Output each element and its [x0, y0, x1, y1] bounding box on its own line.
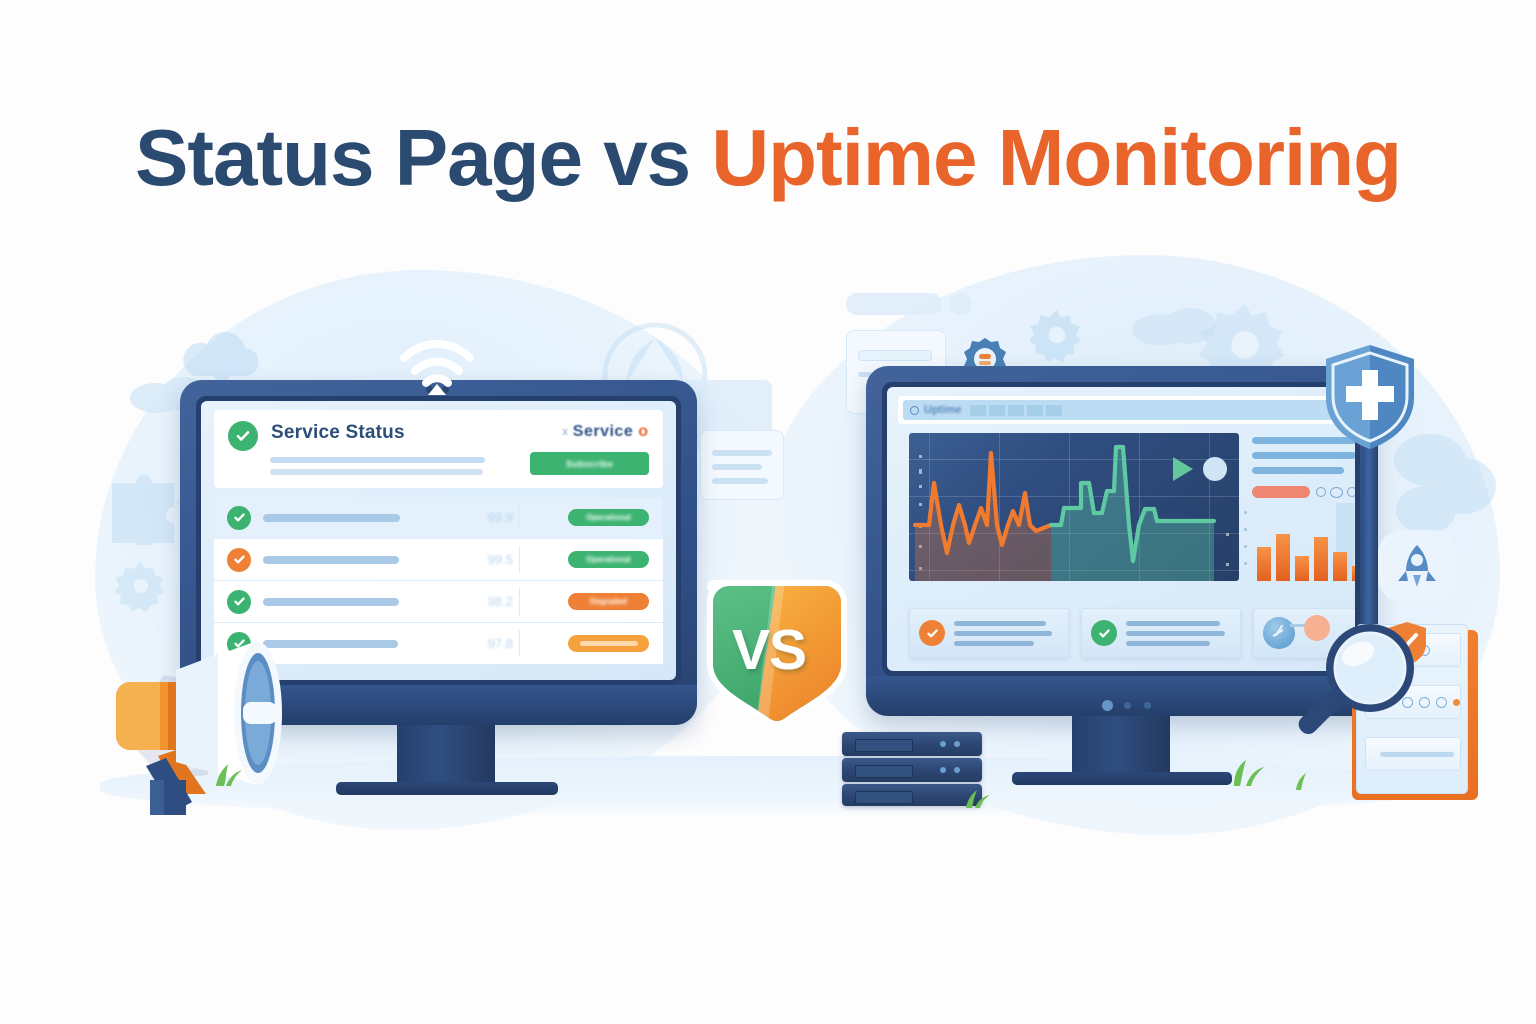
background-line — [712, 478, 768, 484]
monitor-stand-base — [336, 782, 558, 795]
uptime-screen: Uptime — [887, 387, 1355, 671]
gear-icon — [1030, 308, 1084, 362]
vs-badge: VS — [683, 572, 855, 732]
check-circle-icon — [227, 590, 251, 614]
circle-icon — [910, 406, 919, 415]
row-name-placeholder — [263, 556, 399, 564]
uptime-toolbar: Uptime — [898, 396, 1344, 424]
status-page-title: Service Status — [271, 422, 405, 444]
background-line — [712, 464, 762, 470]
grass-icon — [1228, 756, 1268, 786]
illustration-canvas: Status Page vs Uptime Monitoring — [0, 0, 1536, 1024]
bar-item — [1295, 556, 1309, 581]
status-badge: Operational — [568, 509, 649, 526]
uptime-toolbar-inner[interactable]: Uptime — [903, 400, 1339, 420]
gear-icon — [115, 560, 167, 612]
toolbar-blocks — [970, 405, 1062, 416]
check-circle-icon — [1091, 620, 1117, 646]
card-placeholder-lines — [1126, 621, 1225, 646]
status-badge: Operational — [568, 551, 649, 568]
server-unit — [842, 784, 982, 806]
status-dot — [1453, 699, 1460, 706]
server-unit — [842, 732, 982, 756]
circle-icon — [1316, 487, 1326, 497]
vs-badge-label: VS — [683, 572, 855, 732]
uptime-chart — [909, 433, 1239, 581]
subscribe-button-label: Subscribe — [566, 459, 613, 469]
magnifier-icon — [1288, 612, 1428, 752]
badge-inner-pill — [580, 641, 638, 646]
logo-prefix: x — [562, 426, 568, 438]
status-card[interactable] — [1081, 608, 1241, 658]
table-row[interactable]: 98.2 Degraded — [214, 581, 663, 622]
page-title: Status Page vs Uptime Monitoring — [0, 118, 1536, 198]
check-circle-icon — [228, 421, 258, 451]
alert-line — [1252, 486, 1310, 498]
uptime-percent: 99.5 — [488, 552, 513, 567]
card-placeholder-lines — [954, 621, 1052, 646]
circle-icon — [1436, 697, 1447, 708]
row-divider — [519, 546, 520, 573]
power-led — [1102, 700, 1113, 711]
check-circle-icon — [227, 506, 251, 530]
circle-icon — [1330, 487, 1343, 498]
circle-icon — [1347, 487, 1355, 497]
status-badge — [568, 635, 649, 652]
rocket-badge — [1378, 530, 1456, 602]
wifi-icon — [398, 340, 476, 396]
status-badge: Degraded — [568, 593, 649, 610]
row-divider — [519, 504, 520, 531]
status-badge-label: Degraded — [590, 597, 627, 606]
table-row[interactable]: 99.9 Operational — [214, 497, 663, 538]
uptime-chart-svg — [909, 433, 1239, 581]
server-slot — [855, 765, 913, 778]
background-line — [858, 350, 932, 361]
grass-icon — [1292, 768, 1322, 790]
uptime-percent: 99.9 — [488, 510, 513, 525]
row-name-placeholder — [263, 598, 399, 606]
bar-item — [1257, 547, 1271, 581]
subscribe-button[interactable]: Subscribe — [530, 452, 649, 475]
uptime-percent: 97.8 — [488, 636, 513, 651]
grass-icon — [962, 786, 996, 808]
grass-icon — [212, 760, 248, 786]
panel-line — [1252, 467, 1344, 474]
check-circle-icon — [227, 548, 251, 572]
check-circle-icon — [919, 620, 945, 646]
row-divider — [519, 630, 520, 657]
panel-line — [1252, 452, 1355, 459]
server-slot — [855, 739, 913, 752]
background-line — [712, 450, 772, 456]
monitor-stand-neck — [1072, 716, 1170, 778]
uptime-percent: 98.2 — [488, 594, 513, 609]
rocket-icon — [1395, 543, 1439, 589]
status-card[interactable] — [909, 608, 1069, 658]
title-part-navy: Status Page vs — [135, 113, 711, 202]
logo-text: Service — [573, 423, 633, 441]
monitor-stand-neck — [397, 725, 495, 788]
status-badge-label: Operational — [586, 555, 630, 564]
server-led — [954, 741, 960, 747]
server-slot — [855, 791, 913, 804]
server-led — [954, 767, 960, 773]
bar-item — [1276, 534, 1290, 581]
play-triangle-icon — [1173, 457, 1193, 481]
background-card — [950, 293, 972, 315]
service-logo: x Service o — [562, 423, 648, 441]
logo-suffix: o — [638, 423, 648, 441]
bar-item — [1352, 566, 1355, 581]
status-page-header: Service Status x Service o Subscribe — [214, 410, 663, 488]
cloud-icon — [1130, 300, 1220, 350]
header-placeholder-line — [270, 469, 483, 475]
uptime-toolbar-label: Uptime — [924, 404, 961, 416]
status-badge-label: Operational — [586, 513, 630, 522]
header-placeholder-line — [270, 457, 485, 463]
shield-cross-icon — [1322, 342, 1418, 452]
megaphone-icon — [58, 620, 318, 815]
title-part-orange: Uptime Monitoring — [711, 113, 1401, 202]
indicator-dot — [1144, 702, 1151, 709]
background-card — [846, 293, 942, 315]
indicator-dot — [1124, 702, 1131, 709]
server-led — [940, 741, 946, 747]
server-led — [940, 767, 946, 773]
circle-marker-icon — [1203, 457, 1227, 481]
bar-item — [1333, 552, 1347, 581]
bar-item — [1314, 537, 1328, 581]
row-divider — [519, 588, 520, 615]
rack-line — [1380, 752, 1454, 757]
uptime-side-panel — [1252, 433, 1355, 581]
monitor-stand-base — [1012, 772, 1232, 785]
server-unit — [842, 758, 982, 782]
table-row[interactable]: 99.5 Operational — [214, 539, 663, 580]
row-name-placeholder — [263, 514, 400, 522]
